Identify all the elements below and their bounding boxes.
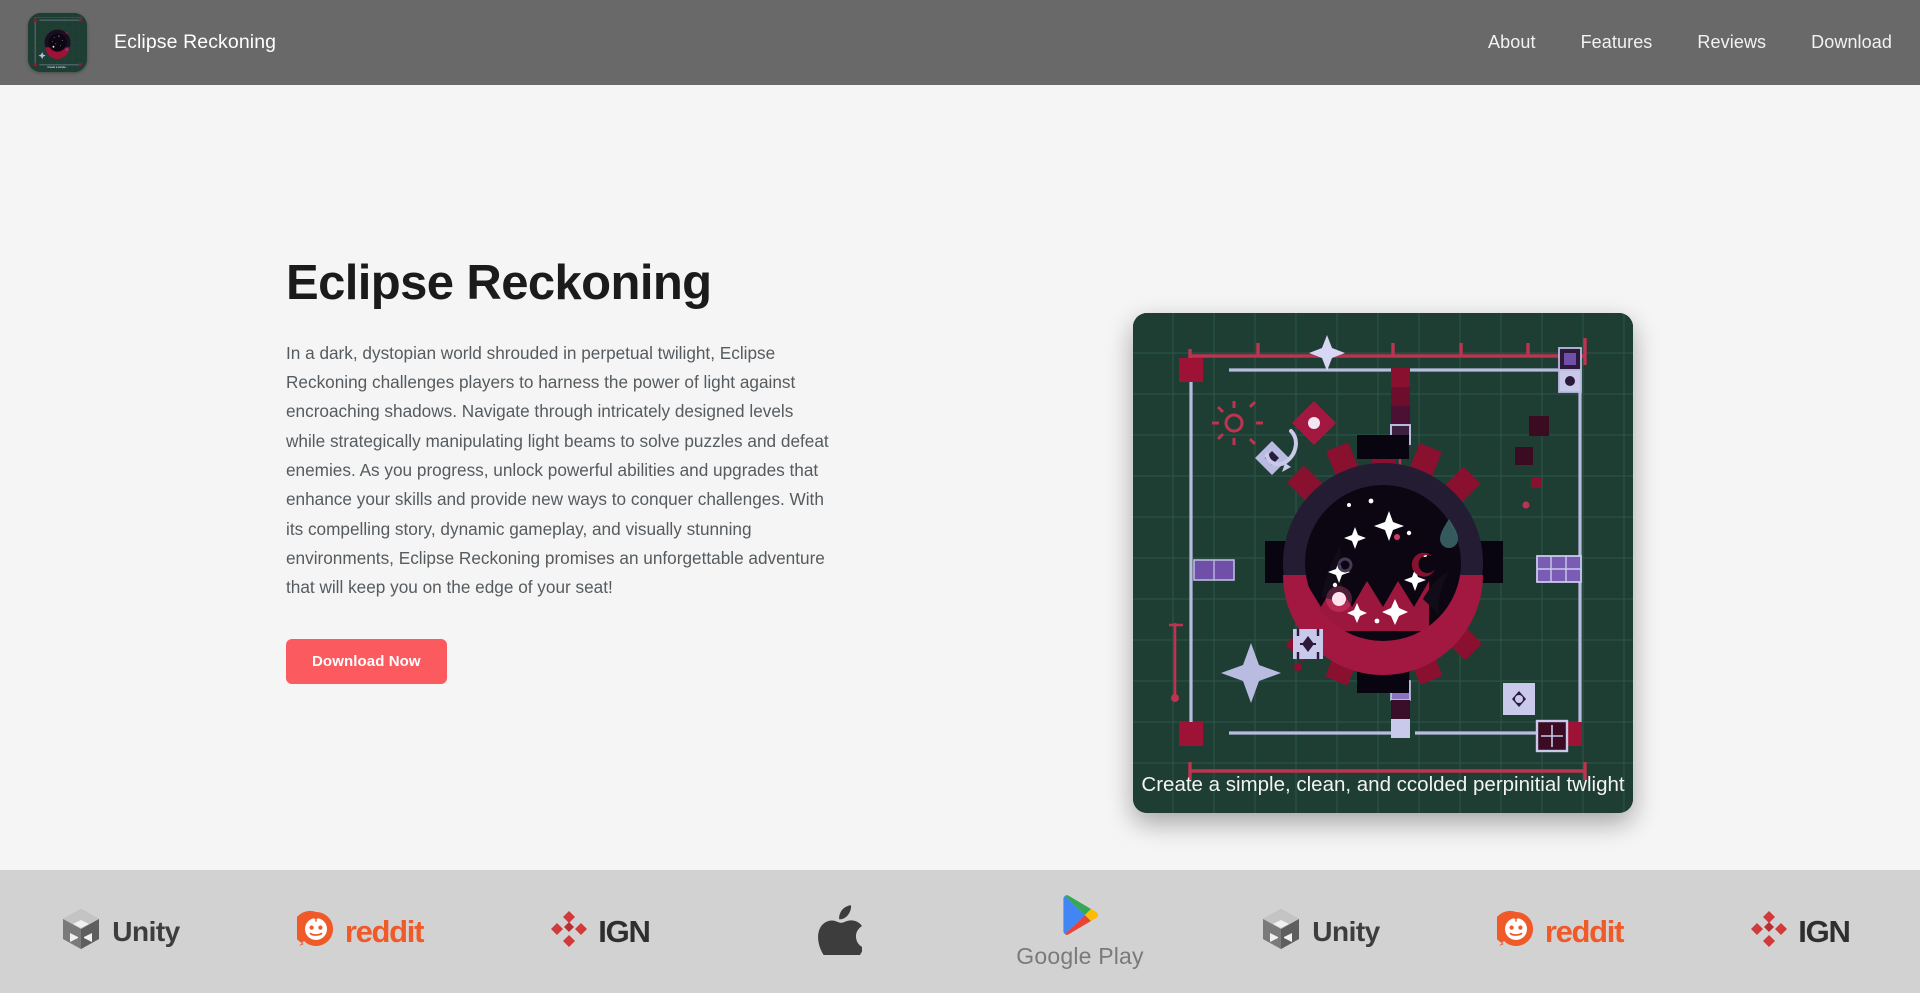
partner-unity-1[interactable]: Unity <box>0 870 240 993</box>
reddit-snoo-icon <box>297 910 335 953</box>
hero-section: Eclipse Reckoning In a dark, dystopian w… <box>0 85 1920 870</box>
hero-description: In a dark, dystopian world shrouded in p… <box>286 339 834 603</box>
ign-diamond-icon <box>1750 910 1788 953</box>
download-now-button[interactable]: Download Now <box>286 639 447 684</box>
nav-link-features[interactable]: Features <box>1581 32 1653 53</box>
game-art-svg: Create a simple, clean, and ccolded perp… <box>1133 313 1633 813</box>
partner-label: reddit <box>1545 914 1623 950</box>
ign-diamond-icon <box>550 910 588 953</box>
game-art-thumb-svg: Create a simple... <box>28 13 87 72</box>
apple-icon <box>818 903 862 960</box>
nav-link-reviews[interactable]: Reviews <box>1697 32 1766 53</box>
partner-label: Unity <box>1312 916 1380 948</box>
unity-cube-icon <box>60 907 102 956</box>
game-thumbnail-icon[interactable]: Create a simple... <box>28 13 87 72</box>
partner-google-play[interactable]: Google Play <box>960 870 1200 993</box>
artwork-caption: Create a simple, clean, and ccolded perp… <box>1141 773 1624 796</box>
partner-ign-2[interactable]: IGN <box>1680 870 1920 993</box>
page-title: Eclipse Reckoning <box>286 257 846 311</box>
partner-ign-1[interactable]: IGN <box>480 870 720 993</box>
google-play-icon <box>1061 894 1099 941</box>
main-nav: About Features Reviews Download <box>1488 32 1920 53</box>
nav-link-download[interactable]: Download <box>1811 32 1892 53</box>
partner-reddit-2[interactable]: reddit <box>1440 870 1680 993</box>
partner-apple[interactable] <box>720 870 960 993</box>
brand-title: Eclipse Reckoning <box>114 31 276 54</box>
unity-cube-icon <box>1260 907 1302 956</box>
partner-label: IGN <box>1798 914 1850 950</box>
game-artwork-card: Create a simple, clean, and ccolded perp… <box>1133 313 1633 813</box>
partner-unity-2[interactable]: Unity <box>1200 870 1440 993</box>
brand[interactable]: Create a simple... Eclipse Reckoning <box>0 13 276 72</box>
hero-copy: Eclipse Reckoning In a dark, dystopian w… <box>286 257 846 684</box>
nav-link-about[interactable]: About <box>1488 32 1536 53</box>
site-header: Create a simple... Eclipse Reckoning Abo… <box>0 0 1920 85</box>
partners-strip: Unity reddit <box>0 870 1920 993</box>
partner-reddit-1[interactable]: reddit <box>240 870 480 993</box>
partner-label: reddit <box>345 914 423 950</box>
reddit-snoo-icon <box>1497 910 1535 953</box>
partner-label: IGN <box>598 914 650 950</box>
partner-label: Google Play <box>1016 943 1144 970</box>
partner-label: Unity <box>112 916 180 948</box>
